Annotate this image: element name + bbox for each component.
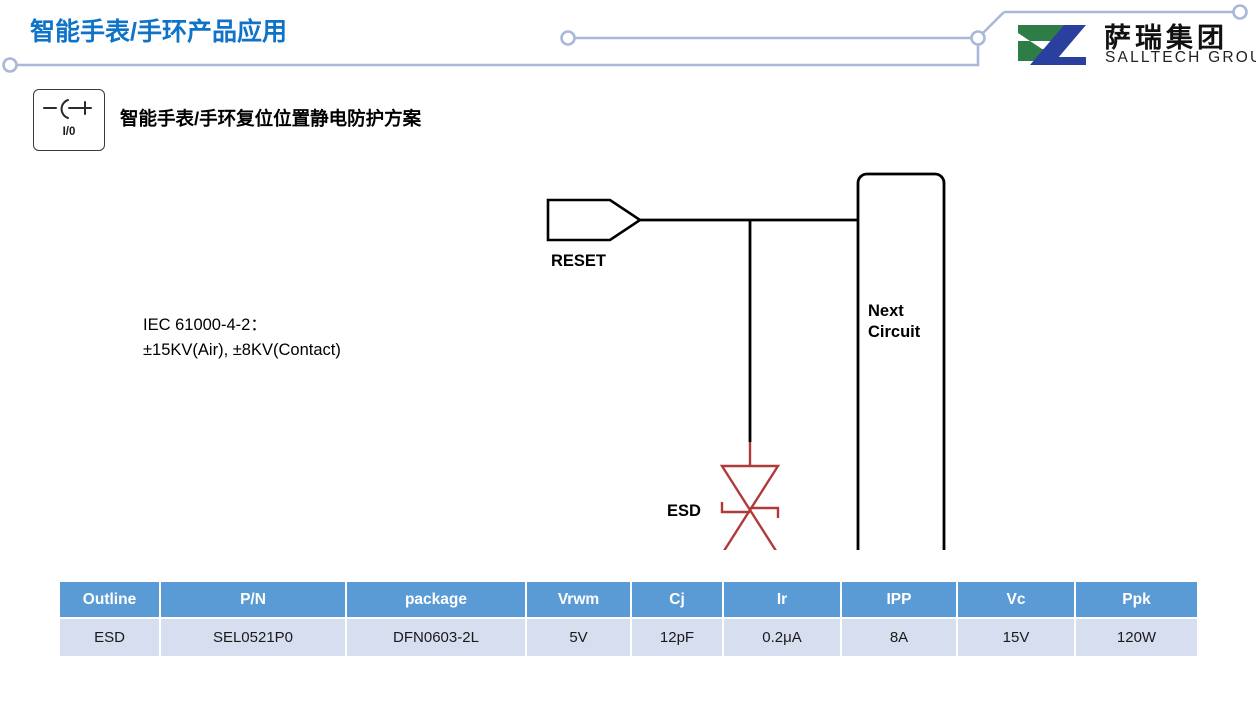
table-cell: 0.2μA xyxy=(723,618,841,656)
table-header-cell: package xyxy=(346,582,526,618)
table-cell: SEL0521P0 xyxy=(160,618,346,656)
next-circuit-label-line2: Circuit xyxy=(868,323,921,341)
table-row: ESD SEL0521P0 DFN0603-2L 5V 12pF 0.2μA 8… xyxy=(60,618,1197,656)
table-header-cell: Vc xyxy=(957,582,1075,618)
table-header-cell: IPP xyxy=(841,582,957,618)
table-cell: ESD xyxy=(60,618,160,656)
deco-node-junction xyxy=(972,32,985,45)
io-port-badge: I/0 xyxy=(33,89,105,151)
table-cell: 5V xyxy=(526,618,631,656)
deco-node-left xyxy=(4,59,17,72)
esd-diode-symbol xyxy=(722,442,778,550)
table-header-cell: Ir xyxy=(723,582,841,618)
esd-label: ESD xyxy=(667,502,701,520)
reset-port-label: RESET xyxy=(551,252,606,270)
table-header-row: Outline P/N package Vrwm Cj Ir IPP Vc Pp… xyxy=(60,582,1197,618)
table-cell: 8A xyxy=(841,618,957,656)
esd-triangle-lower xyxy=(722,510,778,550)
section-subtitle: 智能手表/手环复位位置静电防护方案 xyxy=(120,105,421,131)
reset-port-shape xyxy=(548,200,640,240)
table-header-cell: Outline xyxy=(60,582,160,618)
next-circuit-block xyxy=(858,174,944,550)
io-port-icon xyxy=(39,95,99,125)
table-cell: 120W xyxy=(1075,618,1197,656)
page-title: 智能手表/手环产品应用 xyxy=(30,12,287,48)
esd-triangle-upper xyxy=(722,466,778,510)
parameter-table: Outline P/N package Vrwm Cj Ir IPP Vc Pp… xyxy=(60,582,1197,656)
logo-blue-bar xyxy=(1040,57,1086,65)
next-circuit-label-line1: Next xyxy=(868,302,904,320)
brand-name-en: SALLTECH GROUP xyxy=(1105,49,1256,67)
salltech-logo-mark xyxy=(1012,19,1094,71)
table-header-cell: Vrwm xyxy=(526,582,631,618)
io-port-badge-label: I/0 xyxy=(34,126,104,138)
table-cell: DFN0603-2L xyxy=(346,618,526,656)
circuit-diagram: RESET ESD Next Circuit xyxy=(0,150,1256,550)
table-header-cell: P/N xyxy=(160,582,346,618)
table-header-cell: Cj xyxy=(631,582,723,618)
brand-logo: 萨瑞集团 SALLTECH GROUP xyxy=(1012,16,1244,78)
table-cell: 12pF xyxy=(631,618,723,656)
deco-node-mid xyxy=(562,32,575,45)
table-cell: 15V xyxy=(957,618,1075,656)
table-header-cell: Ppk xyxy=(1075,582,1197,618)
